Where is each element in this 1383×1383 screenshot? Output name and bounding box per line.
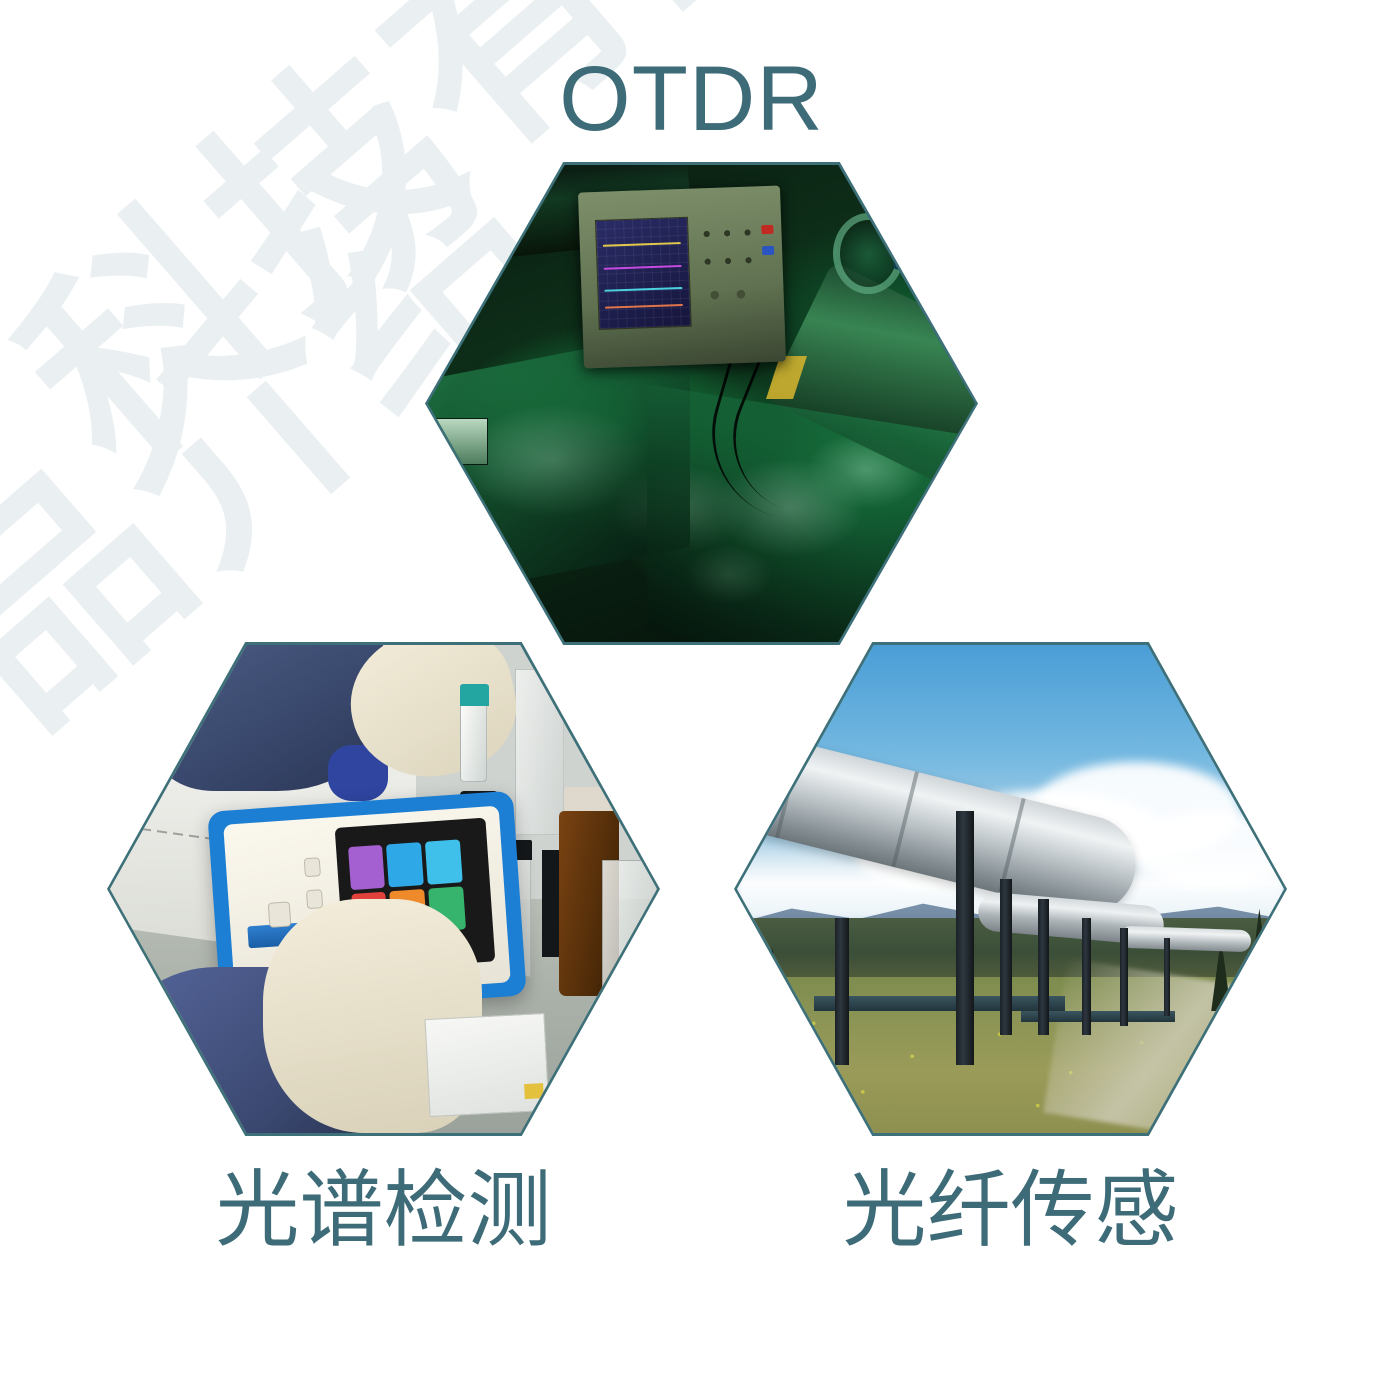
label-fiber-sensing: 光纤传感: [734, 1168, 1287, 1252]
lab-fiber-coil: [833, 213, 904, 294]
oscilloscope-trace-4: [605, 304, 683, 309]
sample-bag-label: [524, 1083, 544, 1099]
pipeline-support-beam-1: [814, 996, 1066, 1011]
app-tile-cyan: [425, 840, 463, 885]
pipeline-post-4: [1038, 899, 1049, 1036]
sample-powder-bag: [425, 1013, 550, 1117]
hexagon-fiber[interactable]: [734, 642, 1287, 1136]
spectrometer-button-3: [268, 902, 292, 928]
oil-pipeline-tundra-photo: [737, 645, 1284, 1133]
spectrometer-button-1: [303, 857, 321, 877]
pipeline-post-5: [1082, 918, 1092, 1035]
oscilloscope-led-red: [762, 224, 774, 233]
lab-side-panel: [433, 418, 488, 466]
glass-beaker: [602, 860, 657, 1006]
oscilloscope-led-blue: [762, 246, 774, 255]
oscilloscope-trace-2: [603, 265, 681, 270]
pipeline-weld-ring-2: [891, 771, 918, 867]
sample-vial-cap: [460, 684, 488, 706]
pipeline-post-1: [835, 918, 848, 1064]
pipeline-segment-far: [1120, 926, 1252, 953]
hexagon-otdr-image-clip: [428, 165, 975, 642]
oscilloscope-trace-1: [603, 242, 681, 247]
oscilloscope-screen: [595, 217, 692, 330]
pipeline-post-3: [1000, 879, 1012, 1035]
pipeline-post-7: [1164, 938, 1171, 1016]
pipeline-post-6: [1120, 928, 1128, 1026]
otdr-title: OTDR: [0, 53, 1383, 145]
pipeline-weld-ring-1: [775, 742, 802, 838]
lab-camera-module: [893, 203, 969, 280]
poster-canvas: 科技有限 产品介绍 OTDR: [0, 0, 1383, 1383]
hexagon-fiber-image-clip: [737, 645, 1284, 1133]
pipeline-post-2: [956, 811, 975, 1065]
hexagon-spectral-image-clip: [110, 645, 657, 1133]
hexagon-otdr[interactable]: [425, 162, 978, 645]
technician-sleeve-upper: [154, 645, 384, 791]
app-tile-purple: [348, 845, 386, 890]
label-spectral-detection: 光谱检测: [107, 1168, 660, 1252]
lab-oscilloscope: [578, 185, 786, 368]
handheld-spectrometer-photo: [110, 645, 657, 1133]
green-laser-optics-lab-photo: [428, 165, 975, 642]
glass-pipette: [515, 669, 564, 835]
hexagon-spectral[interactable]: [107, 642, 660, 1136]
oscilloscope-trace-3: [604, 287, 682, 292]
app-tile-blue: [386, 842, 424, 887]
